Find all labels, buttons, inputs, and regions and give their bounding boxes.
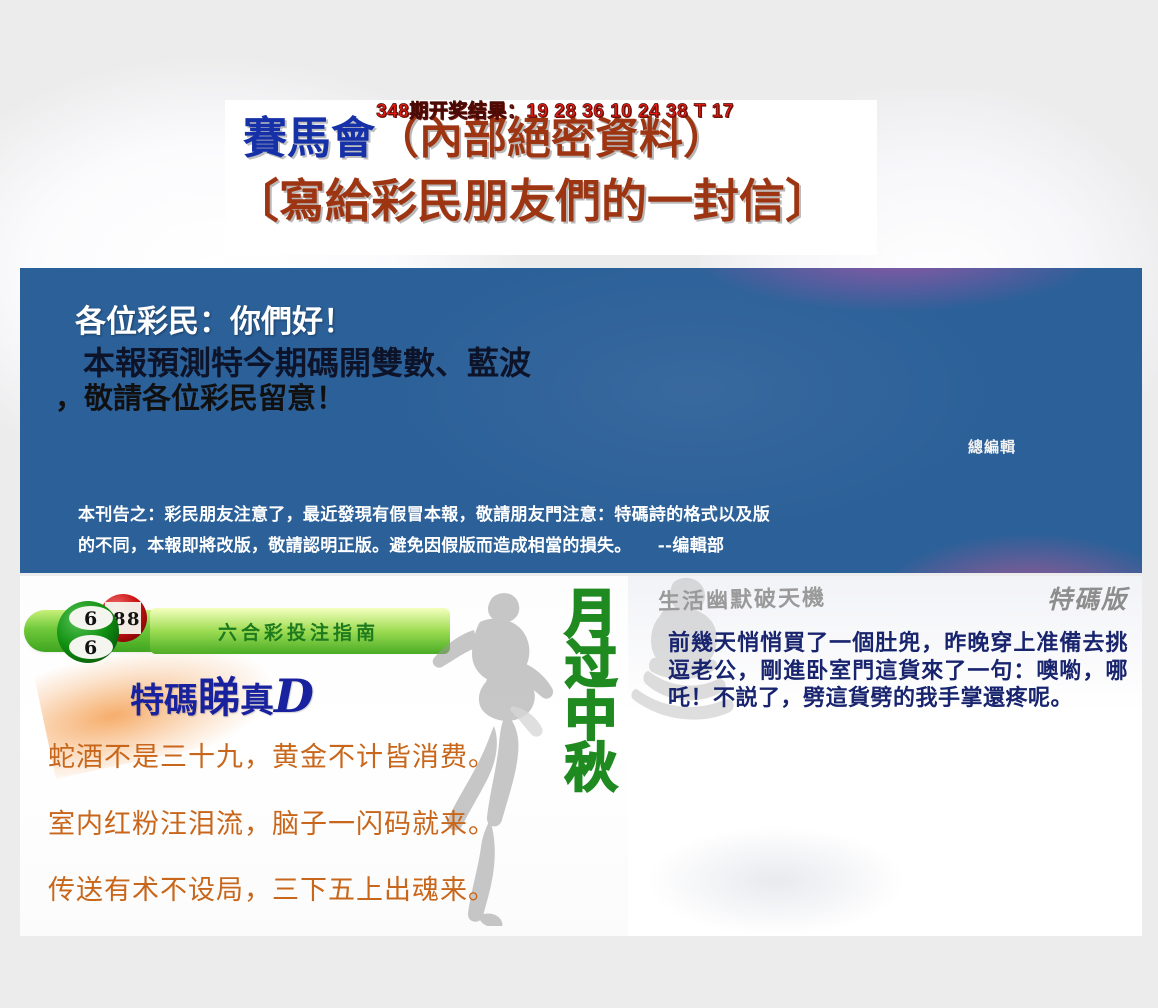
guide-brand-title: 特碼睇真D: [130, 664, 314, 725]
masthead-title-line2: 〔寫給彩民朋友們的一封信〕: [233, 178, 831, 224]
letter-greeting: 各位彩民：你們好！: [75, 296, 354, 341]
guide-banner-label: 六合彩投注指南: [218, 618, 379, 645]
draw-result-strip: 348期开奖结果：19 28 36 10 24 38 T 17: [225, 96, 885, 122]
draw-result-text: 348期开奖结果：19 28 36 10 24 38 T 17: [376, 96, 734, 123]
guide-panel: 六合彩投注指南 8 8 6 6 特碼睇真D: [20, 576, 628, 936]
letter-notice: ，敬請各位彩民留意！: [55, 375, 345, 417]
letter-panel: 各位彩民：你們好！ 本報預測特今期碼開雙數、藍波 ，敬請各位彩民留意！ 總編輯 …: [20, 268, 1142, 573]
poem-line: 传送有术不设局，三下五上出魂来。: [48, 877, 548, 905]
watercolor-wash-decoration: [646, 826, 906, 936]
guide-brand-part-a: 特碼: [130, 681, 198, 721]
poem-block: 蛇酒不是三十九，黄金不计皆消费。 室内红粉汪泪流，脑子一闪码就来。 传送有术不设…: [48, 744, 548, 936]
festival-char: 过: [565, 641, 617, 692]
poem-line: 室内红粉汪泪流，脑子一闪码就来。: [48, 811, 548, 839]
festival-char: 中: [565, 693, 617, 744]
guide-brand-part-b: 睇: [198, 673, 240, 722]
festival-vertical-text: 月 过 中 秋: [558, 590, 624, 796]
letter-fineprint-line-2: 的不同，本報即將改版，敬請認明正版。避免因假版而造成相當的損失。 --编輯部: [78, 531, 948, 562]
humor-panel: 生活幽默破天機 特碼版 前幾天悄悄買了一個肚兜，昨晚穿上准備去挑逗老公，剛進卧室…: [628, 576, 1142, 936]
humor-body-text: 前幾天悄悄買了一個肚兜，昨晚穿上准備去挑逗老公，剛進卧室門這貨來了一句：噢喲，哪…: [668, 630, 1128, 713]
letter-fineprint-line-1: 本刊告之：彩民朋友注意了，最近發現有假冒本報，敬請朋友門注意：特碼詩的格式以及版: [78, 500, 948, 531]
masthead-card: 賽馬會（內部絕密資料） 〔寫給彩民朋友們的一封信〕: [225, 100, 877, 255]
humor-section-title: 生活幽默破天機: [658, 580, 827, 616]
poem-line: 蛇酒不是三十九，黄金不计皆消费。: [48, 744, 548, 772]
guide-brand-part-c: 真: [240, 681, 274, 721]
festival-char: 秋: [565, 744, 617, 795]
bottom-content-area: 六合彩投注指南 8 8 6 6 特碼睇真D: [20, 576, 1142, 936]
festival-char: 月: [565, 590, 617, 641]
letter-signature: 總編輯: [968, 436, 1016, 457]
letter-fineprint: 本刊告之：彩民朋友注意了，最近發現有假冒本報，敬請朋友門注意：特碼詩的格式以及版…: [78, 500, 948, 564]
edition-badge: 特碼版: [1047, 580, 1128, 616]
guide-brand-part-d: D: [274, 669, 314, 723]
masthead-title-line1: 賽馬會（內部絕密資料）: [243, 117, 727, 161]
